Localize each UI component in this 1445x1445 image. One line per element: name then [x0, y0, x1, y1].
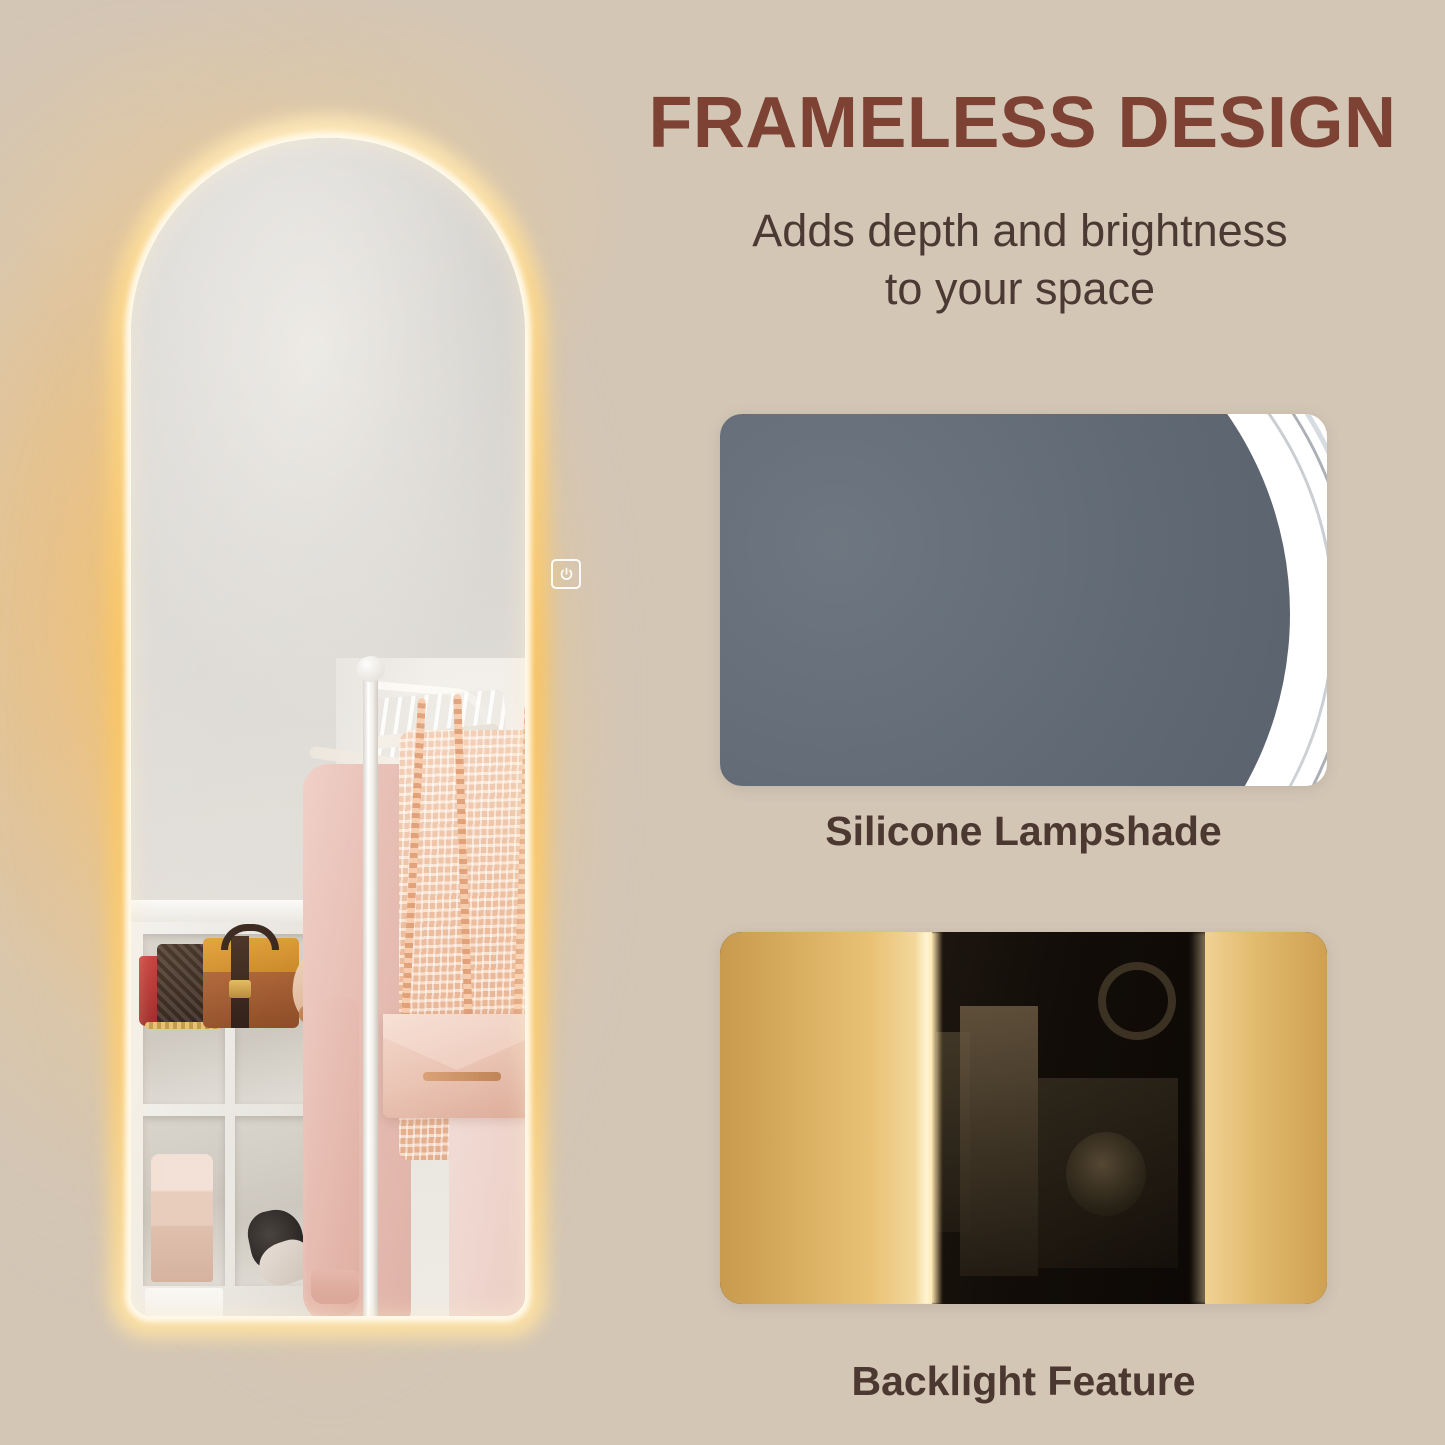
subtitle-line-1: Adds depth and brightness: [640, 202, 1400, 260]
backlight-reflected-round-object: [1066, 1132, 1146, 1216]
backlight-reflected-door: [960, 1006, 1038, 1276]
product-feature-infographic: FRAMELESS DESIGN Adds depth and brightne…: [0, 0, 1445, 1445]
reflected-clutch-hardware: [423, 1072, 501, 1081]
led-arched-mirror: [131, 138, 525, 1316]
power-touch-icon[interactable]: [551, 559, 581, 589]
feature-caption-silicone-lampshade: Silicone Lampshade: [700, 808, 1347, 855]
mirror-reflection-scene: [131, 138, 525, 1316]
reflected-coat-cuff: [311, 1270, 359, 1304]
backlight-wall-wash-right: [1205, 932, 1327, 1304]
reflected-rack-pole: [363, 668, 378, 1316]
mirror-glass: [131, 138, 525, 1316]
feature-card-backlight-feature[interactable]: [720, 932, 1327, 1304]
backlight-wall-wash-left: [720, 932, 932, 1304]
feature-caption-backlight-feature: Backlight Feature: [700, 1358, 1347, 1405]
reflected-folded-towels: [151, 1154, 213, 1282]
backlight-reflected-ring: [1098, 962, 1176, 1040]
reflected-box-bag-lock: [229, 980, 251, 998]
mirror-upper-glass: [131, 138, 525, 658]
reflected-coat-sleeve: [307, 998, 359, 1316]
subtitle-line-2: to your space: [640, 260, 1400, 318]
backlight-led-strip: [916, 932, 942, 1304]
reflected-rack-knob: [357, 656, 385, 682]
reflected-leather-box-bag: [203, 970, 299, 1028]
feature-card-silicone-lampshade[interactable]: [720, 414, 1327, 786]
reflected-storage-bin: [145, 1288, 223, 1316]
page-subtitle: Adds depth and brightness to your space: [640, 202, 1400, 317]
lampshade-highlight: [720, 414, 1327, 786]
page-title: FRAMELESS DESIGN: [600, 86, 1445, 162]
